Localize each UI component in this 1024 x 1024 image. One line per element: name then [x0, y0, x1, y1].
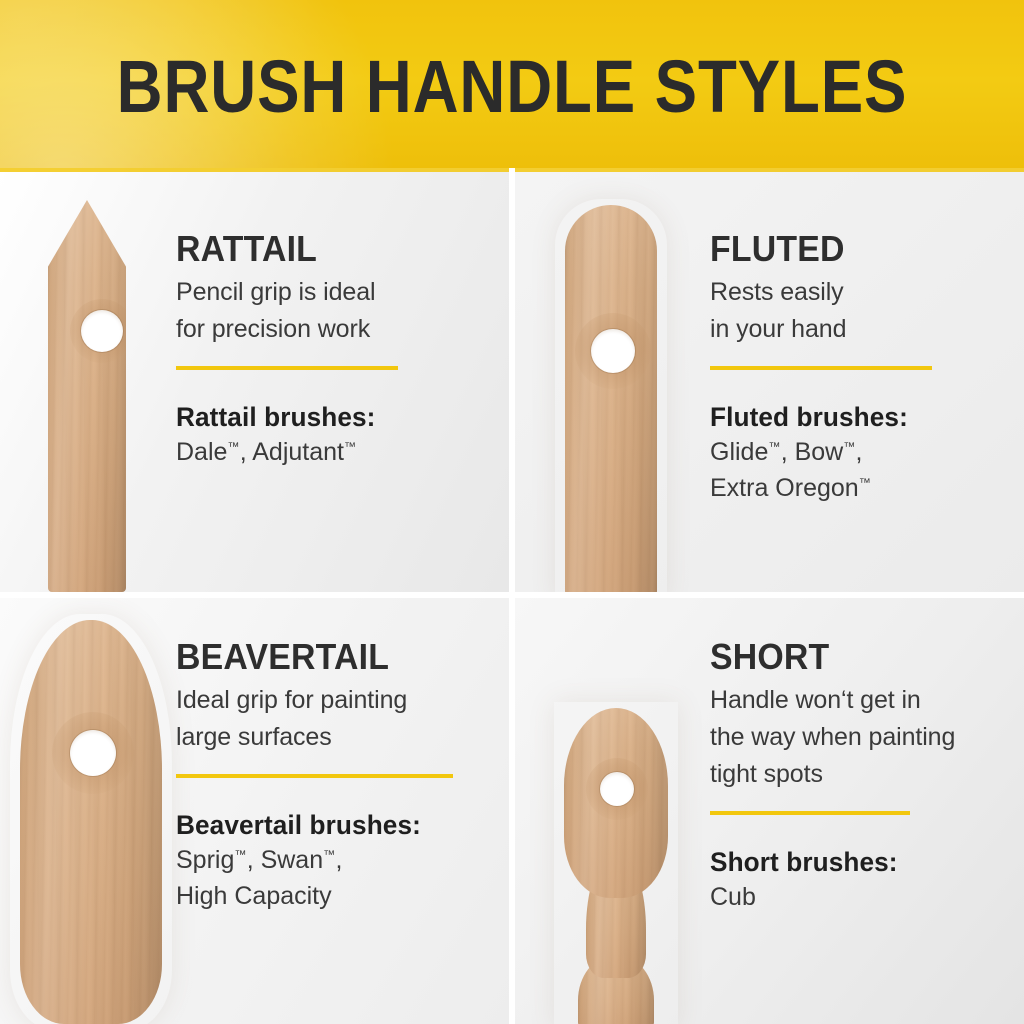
panel-short[interactable]: SHORT Handle won‘t get in the way when p…: [515, 598, 1024, 1024]
trademark-symbol: ™: [344, 440, 356, 454]
brands-list: Dale™, Adjutant™: [176, 434, 476, 470]
panel-fluted[interactable]: FLUTED Rests easily in your hand Fluted …: [515, 168, 1024, 592]
brands-heading: Beavertail brushes:: [176, 810, 477, 840]
wood-texture: [20, 620, 162, 1024]
header-banner: BRUSH HANDLE STYLES: [0, 0, 1024, 168]
panel-description: Handle won‘t get in the way when paintin…: [710, 682, 1010, 793]
brands-line: High Capacity: [176, 878, 486, 914]
wood-texture: [565, 205, 657, 592]
hang-hole: [81, 310, 123, 352]
panel-title: FLUTED: [710, 230, 992, 268]
brands-line: Glide™, Bow™,: [710, 434, 1010, 470]
yellow-divider-rule: [176, 774, 453, 778]
panel-title: RATTAIL: [176, 230, 458, 268]
description-line: in your hand: [710, 311, 1010, 348]
brands-heading: Fluted brushes:: [710, 402, 1001, 432]
brands-heading: Rattail brushes:: [176, 402, 467, 432]
panel-rattail[interactable]: RATTAIL Pencil grip is ideal for precisi…: [0, 168, 509, 592]
description-line: Handle won‘t get in: [710, 682, 1010, 719]
brands-list: Sprig™, Swan™, High Capacity: [176, 842, 486, 914]
description-line: Pencil grip is ideal: [176, 274, 476, 311]
brands-line: Sprig™, Swan™,: [176, 842, 486, 878]
trademark-symbol: ™: [227, 440, 239, 454]
hang-hole: [591, 329, 635, 373]
trademark-symbol: ™: [859, 476, 871, 490]
fluted-handle-image: [565, 205, 657, 592]
panel-top-accent-stripe: [515, 168, 1024, 172]
trademark-symbol: ™: [843, 440, 855, 454]
rattail-text-block: RATTAIL Pencil grip is ideal for precisi…: [176, 230, 476, 470]
description-line: Ideal grip for painting: [176, 682, 486, 719]
fluted-text-block: FLUTED Rests easily in your hand Fluted …: [710, 230, 1010, 506]
yellow-divider-rule: [710, 811, 910, 815]
brands-line: Dale™, Adjutant™: [176, 434, 476, 470]
trademark-symbol: ™: [323, 848, 335, 862]
beavertail-handle-image: [20, 620, 162, 1024]
infographic-root: BRUSH HANDLE STYLES RATTAIL Pencil grip …: [0, 0, 1024, 1024]
description-line: tight spots: [710, 756, 1010, 793]
hang-hole: [70, 730, 116, 776]
wood-texture: [48, 200, 126, 592]
panel-title: SHORT: [710, 638, 992, 676]
short-handle-image: [564, 708, 668, 1024]
panel-description: Ideal grip for painting large surfaces: [176, 682, 486, 756]
description-line: Rests easily: [710, 274, 1010, 311]
brands-heading: Short brushes:: [710, 847, 1001, 877]
panel-description: Pencil grip is ideal for precision work: [176, 274, 476, 348]
panel-top-accent-stripe: [0, 168, 509, 172]
description-line: large surfaces: [176, 719, 486, 756]
description-line: the way when painting: [710, 719, 1010, 756]
yellow-divider-rule: [710, 366, 932, 370]
yellow-divider-rule: [176, 366, 398, 370]
description-line: for precision work: [176, 311, 476, 348]
panel-grid: RATTAIL Pencil grip is ideal for precisi…: [0, 168, 1024, 1024]
short-text-block: SHORT Handle won‘t get in the way when p…: [710, 638, 1010, 915]
beavertail-text-block: BEAVERTAIL Ideal grip for painting large…: [176, 638, 486, 914]
brands-line: Cub: [710, 879, 1010, 915]
panel-beavertail[interactable]: BEAVERTAIL Ideal grip for painting large…: [0, 598, 509, 1024]
trademark-symbol: ™: [234, 848, 246, 862]
brands-line: Extra Oregon™: [710, 470, 1010, 506]
page-title: BRUSH HANDLE STYLES: [72, 50, 953, 124]
panel-title: BEAVERTAIL: [176, 638, 467, 676]
hang-hole: [600, 772, 634, 806]
trademark-symbol: ™: [768, 440, 780, 454]
panel-description: Rests easily in your hand: [710, 274, 1010, 348]
brands-list: Cub: [710, 879, 1010, 915]
brands-list: Glide™, Bow™, Extra Oregon™: [710, 434, 1010, 506]
rattail-handle-image: [48, 200, 126, 592]
